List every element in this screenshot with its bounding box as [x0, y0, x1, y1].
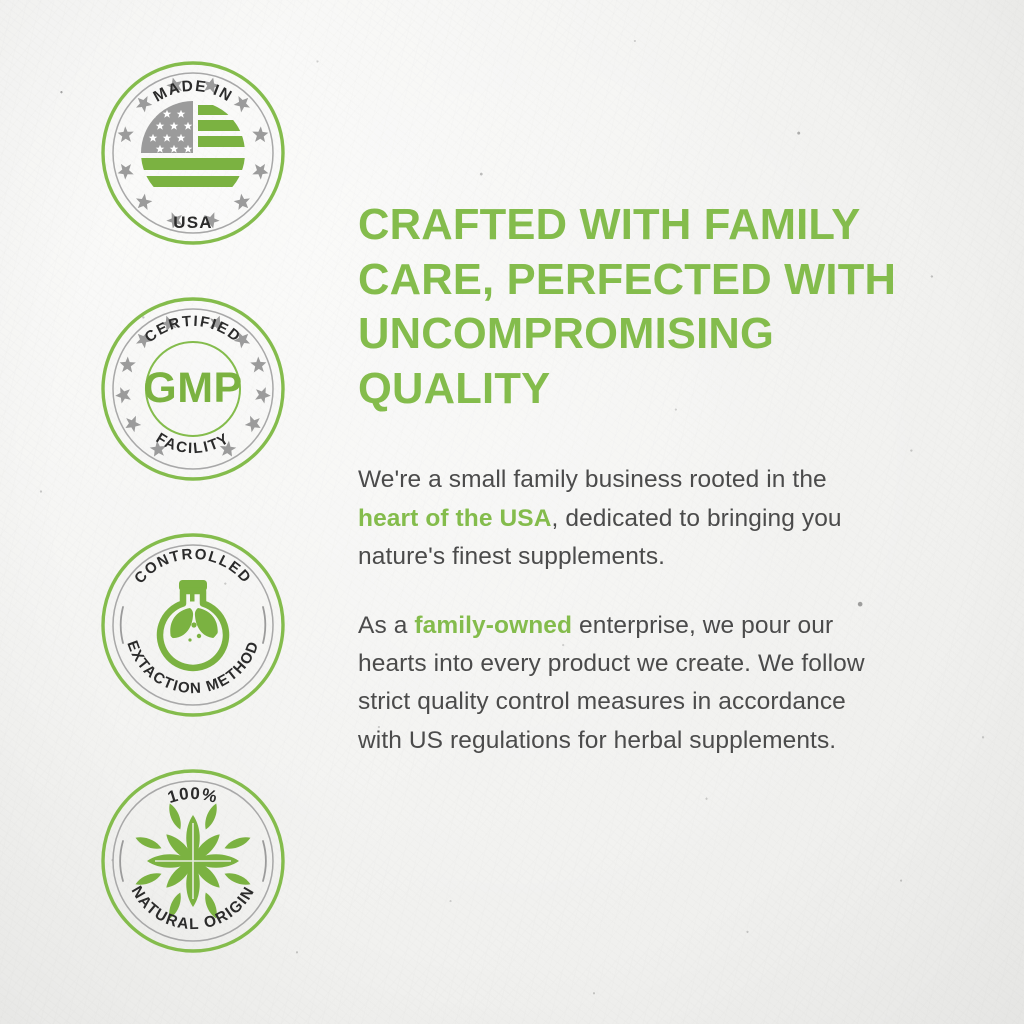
usa-flag-circle-icon [141, 101, 245, 187]
flask-with-leaves-icon [160, 580, 226, 668]
page-title: CRAFTED WITH FAMILY CARE, PERFECTED WITH… [358, 198, 918, 416]
gmp-center-label: GMP [143, 364, 242, 412]
paragraph-one-part-1: We're a small family business rooted in … [358, 466, 827, 493]
badge-natural-origin: 100% NATURAL ORIGIN [98, 766, 288, 956]
paragraph-one-highlight: heart of the USA [358, 505, 552, 532]
badge-top-label: 100% [165, 784, 220, 807]
trust-badge-column: MADE IN USA [98, 58, 298, 1002]
badge-top-label: MADE IN [151, 78, 236, 106]
content-column: CRAFTED WITH FAMILY CARE, PERFECTED WITH… [358, 198, 918, 760]
badge-made-in-usa: MADE IN USA [98, 58, 288, 248]
badge-bottom-label: FACILITY [153, 430, 233, 458]
badge-controlled-extraction-method: CONTROLLED EXTACTION METHOD [98, 530, 288, 720]
promo-panel: MADE IN USA [0, 0, 1024, 1024]
body-copy: We're a small family business rooted in … [358, 461, 878, 760]
badge-gmp-certified-facility: GMP CERTIFIED FACILITY [98, 294, 288, 484]
paragraph-two-highlight: family-owned [414, 612, 572, 639]
paragraph-one: We're a small family business rooted in … [358, 461, 878, 576]
paragraph-two-part-1: As a [358, 612, 414, 639]
paragraph-two: As a family-owned enterprise, we pour ou… [358, 607, 878, 760]
badge-bottom-label: USA [173, 213, 213, 232]
